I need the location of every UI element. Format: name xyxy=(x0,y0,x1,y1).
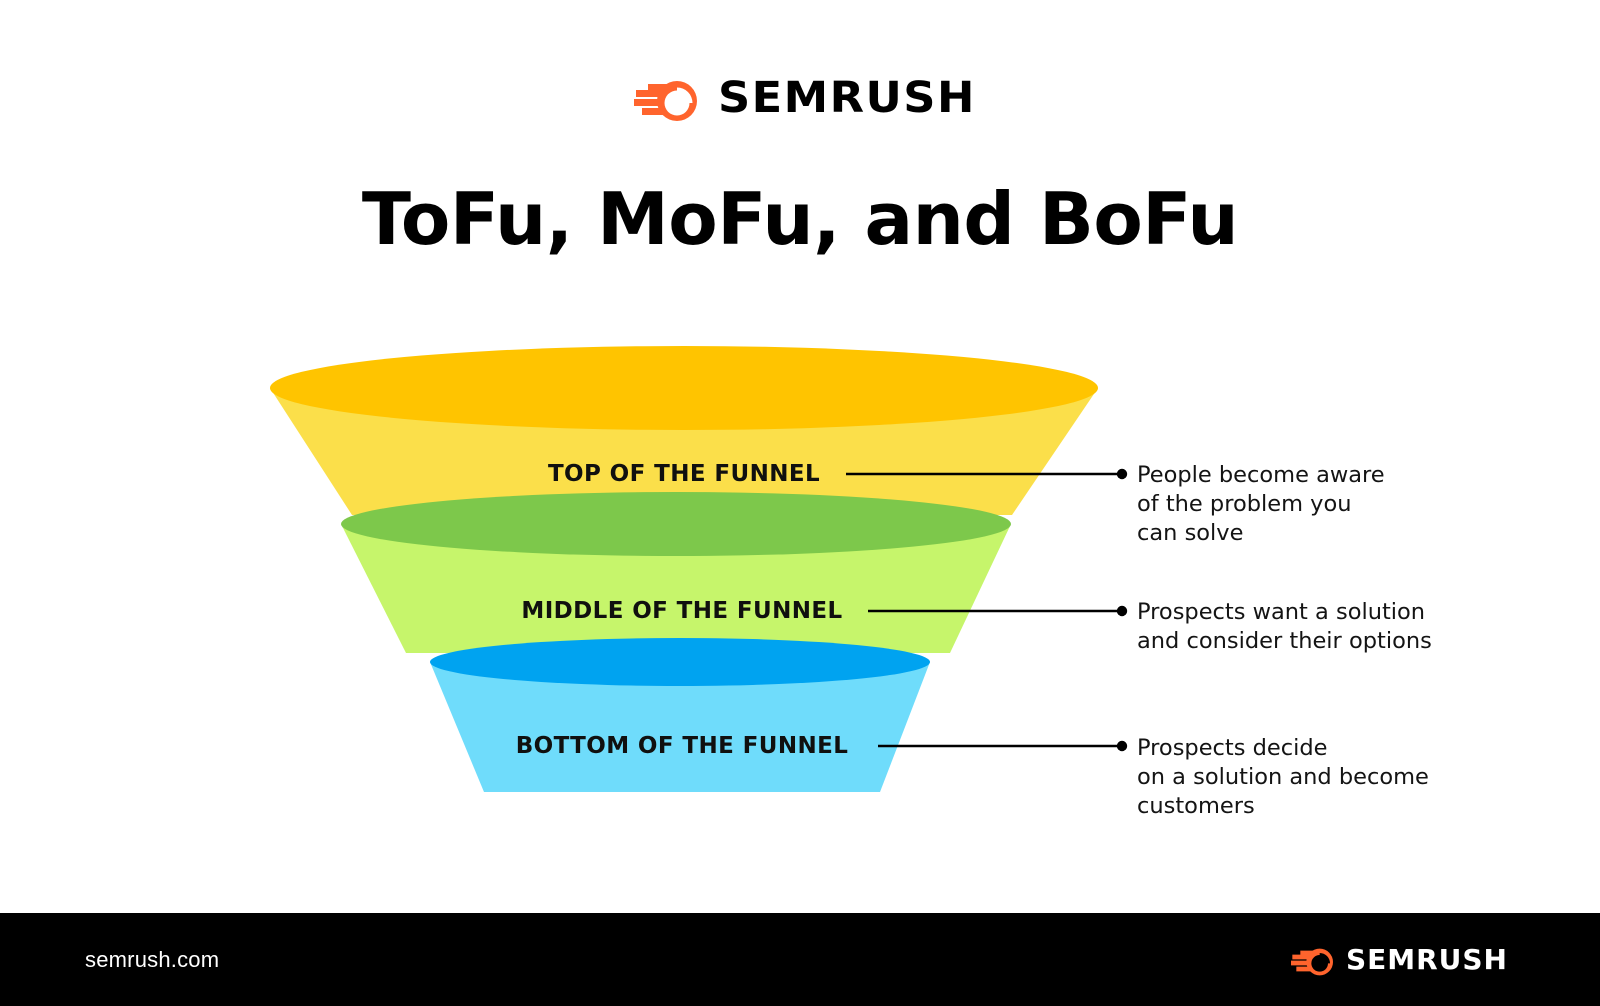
footer-url[interactable]: semrush.com xyxy=(85,947,219,973)
footer-wordmark: SEMRUSH xyxy=(1346,946,1508,974)
funnel-annotation-bofu: Prospects decide on a solution and becom… xyxy=(1137,734,1429,821)
footer-brand-logo: SEMRUSH xyxy=(1291,944,1508,976)
funnel-label-bofu: BOTTOM OF THE FUNNEL xyxy=(516,733,849,759)
funnel-diagram: TOP OF THE FUNNEL MIDDLE OF THE FUNNEL B… xyxy=(0,0,1600,906)
footer-bar: semrush.com SEMRUSH xyxy=(0,913,1600,1006)
funnel-segment-tofu xyxy=(270,346,1098,515)
leader-line-bofu xyxy=(878,741,1127,751)
funnel-annotation-mofu: Prospects want a solution and consider t… xyxy=(1137,598,1432,656)
funnel-label-mofu: MIDDLE OF THE FUNNEL xyxy=(521,598,842,624)
funnel-segment-bofu xyxy=(430,638,930,792)
funnel-label-tofu: TOP OF THE FUNNEL xyxy=(548,461,820,487)
infographic-canvas: SEMRUSH ToFu, MoFu, and BoFu xyxy=(0,0,1600,1006)
funnel-annotation-tofu: People become aware of the problem you c… xyxy=(1137,461,1385,548)
funnel-segment-mofu xyxy=(341,492,1011,653)
semrush-comet-icon xyxy=(1291,944,1335,976)
